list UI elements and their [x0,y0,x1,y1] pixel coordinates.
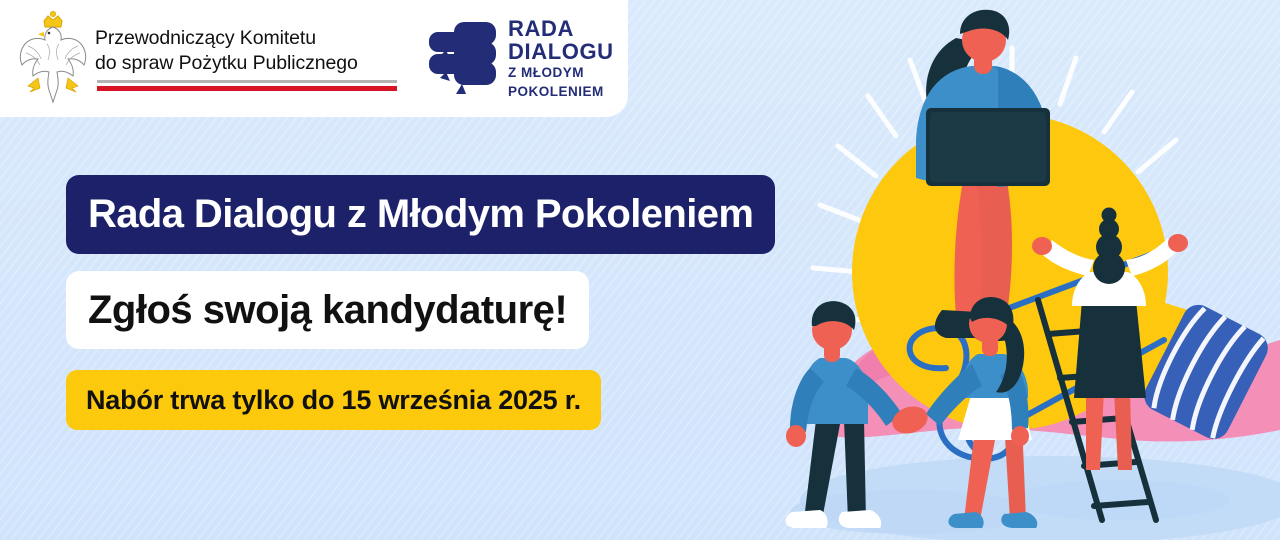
institution-name: Przewodniczący Komitetu do spraw Pożytku… [95,26,405,76]
man-shoe-back [786,510,828,528]
cta-banner: Zgłoś swoją kandydaturę! [66,271,589,349]
man-shoe-front [839,510,882,528]
header-card: Przewodniczący Komitetu do spraw Pożytku… [0,0,628,117]
cta-banner-text: Zgłoś swoją kandydaturę! [88,288,567,333]
flag-rule-red [97,86,397,91]
polish-eagle-emblem [14,10,92,106]
council-logo-line-3: Z MŁODYM [508,65,614,82]
institution-line-2: do spraw Pożytku Publicznego [95,51,405,76]
promotional-banner: Przewodniczący Komitetu do spraw Pożytku… [0,0,1280,540]
flag-rule-gray [97,80,397,83]
council-logo: RADA DIALOGU Z MŁODYM POKOLENIEM [428,18,608,98]
polish-flag-rule [97,80,397,91]
council-logo-wordmark: RADA DIALOGU Z MŁODYM POKOLENIEM [508,18,614,100]
council-logo-line-4: POKOLENIEM [508,84,614,101]
title-banner: Rada Dialogu z Młodym Pokoleniem [66,175,775,254]
deadline-banner-text: Nabór trwa tylko do 15 września 2025 r. [86,385,581,416]
ladder-person-skirt [1074,300,1146,398]
institution-line-1: Przewodniczący Komitetu [95,26,405,51]
speech-bubble-plant-mark [428,20,504,96]
title-banner-text: Rada Dialogu z Młodym Pokoleniem [88,192,753,237]
council-logo-line-2: DIALOGU [508,41,614,64]
woman-shoe-back [948,512,983,528]
lightbulb-idea-teamwork-illustration [760,0,1280,540]
deadline-banner: Nabór trwa tylko do 15 września 2025 r. [66,370,601,430]
council-logo-line-1: RADA [508,18,614,41]
